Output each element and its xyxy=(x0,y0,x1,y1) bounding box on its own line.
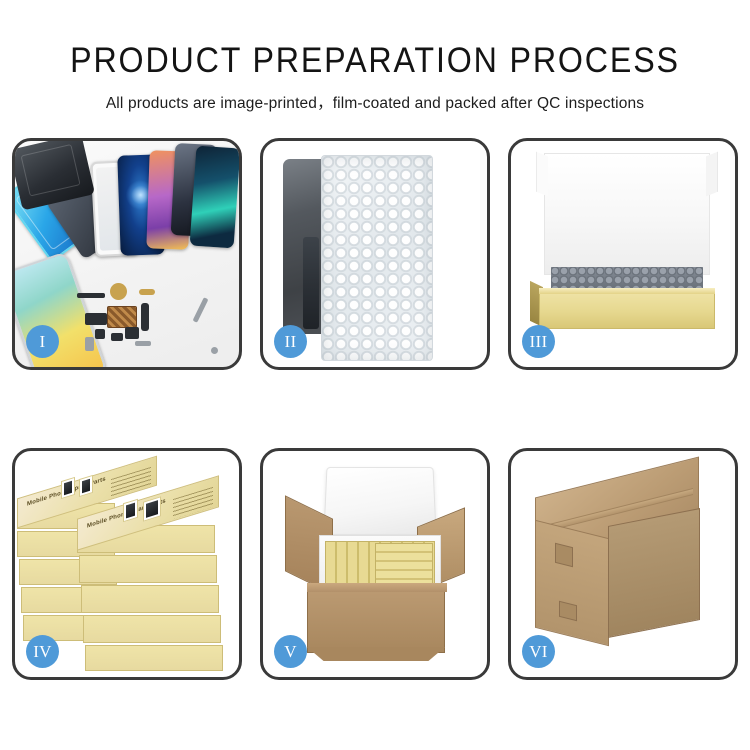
page-header: PRODUCT PREPARATION PROCESS All products… xyxy=(0,0,750,113)
teal-swirl-phone xyxy=(190,146,239,249)
box-front-panel xyxy=(539,291,715,329)
step-panel-3[interactable]: III xyxy=(508,138,738,370)
step-panel-6[interactable]: VI xyxy=(508,448,738,680)
camera-module-component xyxy=(85,313,107,325)
speaker-component xyxy=(125,327,139,339)
step-panel-4[interactable]: Mobile Phone Spare Parts Mobile Phone Sp… xyxy=(12,448,242,680)
step-badge-6: VI xyxy=(522,635,555,668)
small-chip-component xyxy=(95,329,105,339)
step-panel-1[interactable]: I xyxy=(12,138,242,370)
carton-front-panel xyxy=(307,589,445,653)
carton-bottom xyxy=(307,647,445,661)
sim-tray-component xyxy=(85,337,94,351)
vibration-motor-component xyxy=(111,333,123,341)
step-badge-3: III xyxy=(522,325,555,358)
process-grid: I II III xyxy=(12,138,738,680)
flex-strip-component xyxy=(77,293,105,298)
step-panel-2[interactable]: II xyxy=(260,138,490,370)
page-subtitle: All products are image-printed，film-coat… xyxy=(0,91,750,113)
step-badge-2: II xyxy=(274,325,307,358)
ribbon-cable-component xyxy=(141,303,149,331)
screw-strip-component xyxy=(135,341,151,346)
white-box-lid xyxy=(544,153,710,275)
gold-connector-component xyxy=(139,289,155,295)
step-badge-4: IV xyxy=(26,635,59,668)
page-title: PRODUCT PREPARATION PROCESS xyxy=(30,42,720,80)
stacked-box-r3 xyxy=(81,585,219,613)
stacked-box-r5 xyxy=(85,645,223,671)
stacked-box-r4 xyxy=(83,615,221,643)
step-badge-5: V xyxy=(274,635,307,668)
carton-right-face xyxy=(608,508,700,638)
packed-yellow-boxes-stacked xyxy=(375,543,433,585)
step-panel-5[interactable]: V xyxy=(260,448,490,680)
bubble-wrap-bag xyxy=(321,155,433,361)
tweezers-component xyxy=(193,297,209,323)
gold-speaker-component xyxy=(110,283,127,300)
step-badge-1: I xyxy=(26,325,59,358)
logic-board-chip xyxy=(107,306,137,328)
screw-component xyxy=(211,347,218,354)
carton-left-face xyxy=(535,520,609,646)
box-top-rim xyxy=(539,288,715,294)
stacked-box-r2 xyxy=(79,555,217,583)
screen-flex-cable xyxy=(303,237,319,329)
carton-tab-upper xyxy=(555,543,573,567)
